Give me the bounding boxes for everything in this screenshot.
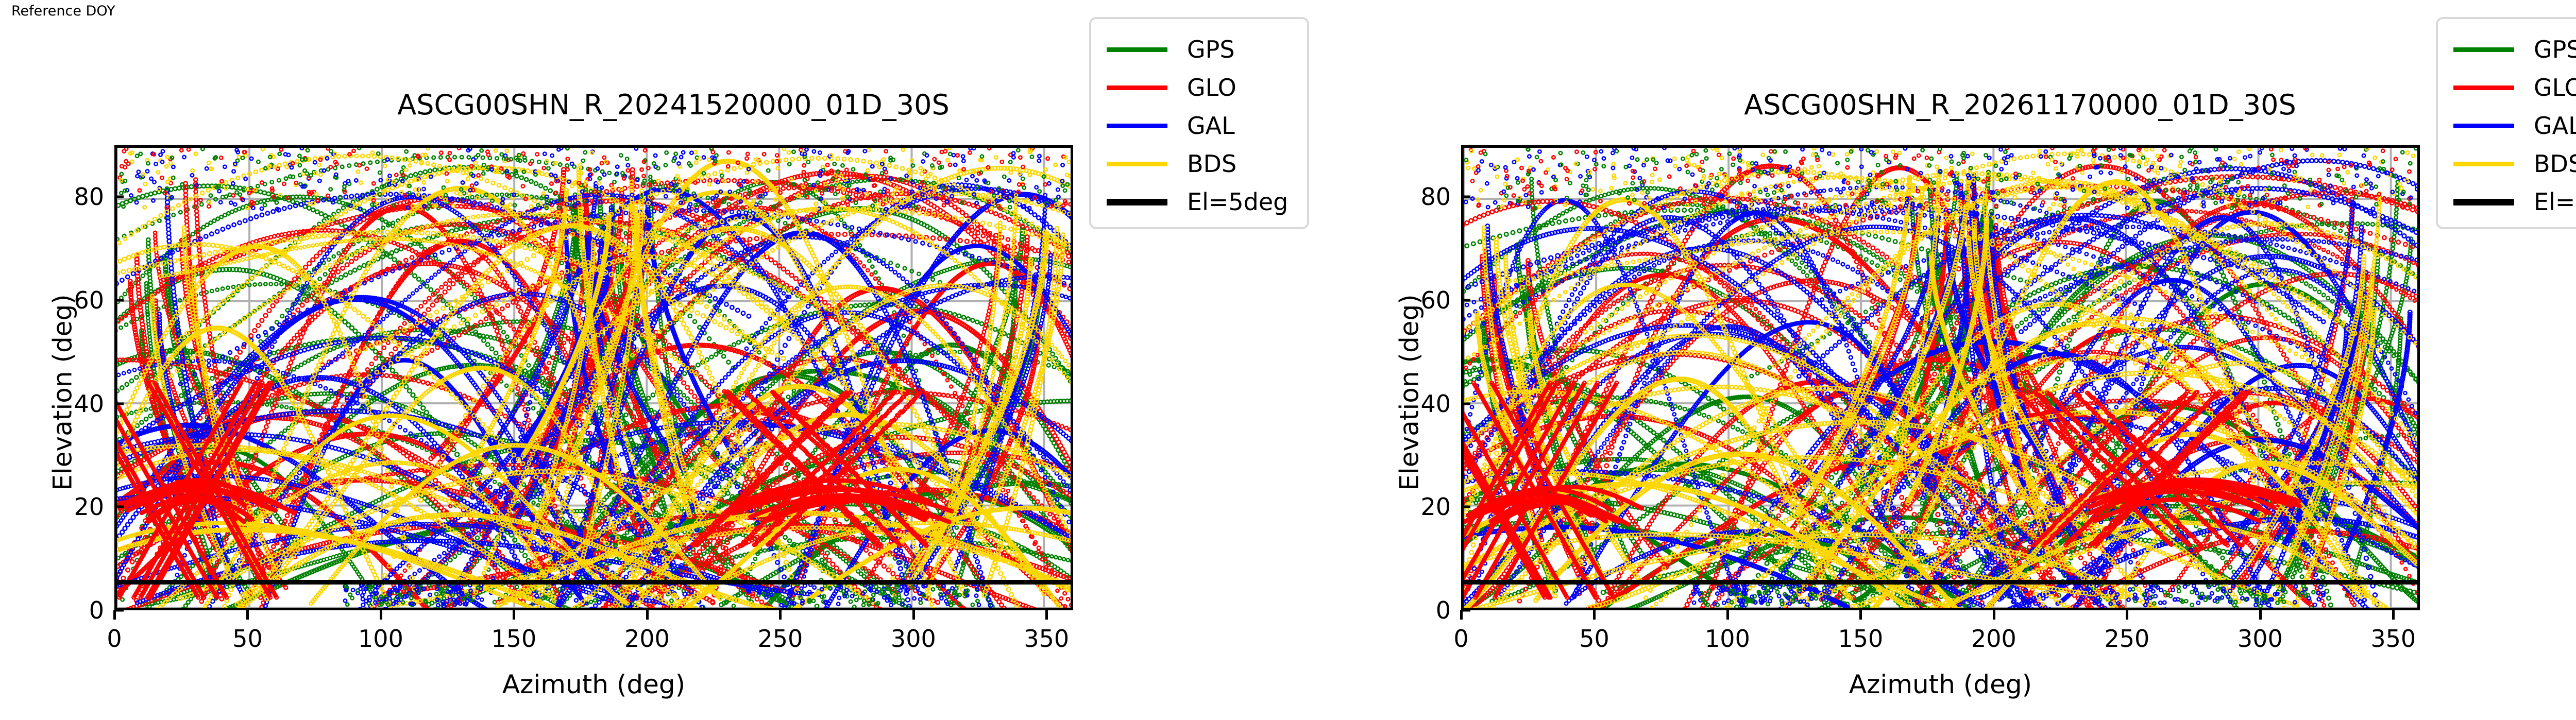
x-tick-mark [1993, 610, 1995, 620]
legend-label: GLO [2534, 76, 2576, 99]
y-axis-label: Elevation (deg) [48, 160, 78, 625]
panel-left: ASCG00SHN_R_20241520000_01D_30S 02040608… [0, 0, 1347, 720]
x-tick-label: 250 [2075, 625, 2178, 653]
legend-item[interactable]: GLO [2438, 68, 2576, 107]
legend-swatch-gal [1107, 124, 1167, 128]
y-tick-mark [114, 402, 124, 405]
x-tick-mark [912, 610, 915, 620]
x-tick-mark [2126, 610, 2128, 620]
legend-swatch-el-5deg [2453, 199, 2514, 205]
x-tick-mark [1460, 610, 1463, 620]
legend-label: GAL [1187, 114, 1235, 138]
x-tick-label: 300 [862, 625, 965, 653]
sky-track-plot [117, 148, 1071, 608]
legend-item[interactable]: GPS [1091, 30, 1307, 68]
legend-label: BDS [2534, 152, 2576, 176]
y-tick-mark [1461, 506, 1470, 508]
legend-label: El=5deg [2534, 190, 2576, 214]
figure-canvas: Reference DOY ASCG00SHN_R_20241520000_01… [0, 0, 2576, 720]
x-tick-label: 250 [728, 625, 832, 653]
x-tick-label: 150 [462, 625, 565, 653]
legend-item[interactable]: BDS [1091, 145, 1307, 183]
legend-swatch-el-5deg [1107, 199, 1167, 205]
y-tick-mark [1461, 196, 1470, 198]
x-axis-label: Azimuth (deg) [114, 670, 1073, 699]
legend-item[interactable]: GAL [1091, 107, 1307, 145]
x-tick-label: 350 [2342, 625, 2445, 653]
x-tick-mark [246, 610, 249, 620]
y-axis-label: Elevation (deg) [1395, 160, 1425, 625]
legend-item[interactable]: GPS [2438, 30, 2576, 68]
legend-label: GAL [2534, 114, 2576, 138]
legend-label: GPS [1187, 38, 1235, 61]
x-tick-mark [380, 610, 382, 620]
panel-title: ASCG00SHN_R_20261170000_01D_30S [1347, 89, 2576, 121]
x-axis-ticks: 050100150200250300350 [114, 610, 1073, 672]
x-tick-label: 200 [596, 625, 699, 653]
legend-swatch-gps [2453, 47, 2514, 52]
legend-swatch-bds [1107, 162, 1167, 166]
plot-area[interactable] [114, 145, 1073, 610]
x-axis-ticks: 050100150200250300350 [1461, 610, 2420, 672]
satellite-arcs [1464, 148, 2417, 608]
x-tick-label: 0 [63, 625, 166, 653]
x-tick-mark [2259, 610, 2262, 620]
y-tick-mark [1461, 299, 1470, 302]
y-tick-mark [114, 299, 124, 302]
x-tick-label: 100 [329, 625, 432, 653]
plot-area[interactable] [1461, 145, 2420, 610]
legend-label: El=5deg [1187, 190, 1288, 214]
legend-item[interactable]: El=5deg [2438, 183, 2576, 221]
legend-swatch-bds [2453, 162, 2514, 166]
legend-item[interactable]: El=5deg [1091, 183, 1307, 221]
legend-label: BDS [1187, 152, 1236, 176]
y-tick-mark [114, 506, 124, 508]
x-tick-label: 50 [196, 625, 299, 653]
satellite-arcs [117, 148, 1071, 608]
legend-swatch-gal [2453, 124, 2514, 128]
legend-item[interactable]: GAL [2438, 107, 2576, 145]
sky-track-plot [1464, 148, 2417, 608]
panel-right: ASCG00SHN_R_20261170000_01D_30S 02040608… [1347, 0, 2576, 720]
x-tick-mark [779, 610, 782, 620]
x-tick-label: 100 [1676, 625, 1779, 653]
legend-label: GLO [1187, 76, 1236, 99]
x-tick-mark [113, 610, 116, 620]
x-tick-mark [1593, 610, 1596, 620]
x-tick-mark [2392, 610, 2395, 620]
x-tick-label: 150 [1809, 625, 1912, 653]
legend-box[interactable]: GPSGLOGALBDSEl=5deg [1089, 17, 1309, 229]
legend-label: GPS [2534, 38, 2576, 61]
legend-swatch-glo [1107, 85, 1167, 90]
x-tick-mark [513, 610, 515, 620]
legend-swatch-gps [1107, 47, 1167, 52]
legend-item[interactable]: BDS [2438, 145, 2576, 183]
x-tick-mark [1045, 610, 1048, 620]
x-tick-label: 200 [1942, 625, 2045, 653]
x-tick-mark [646, 610, 649, 620]
y-tick-mark [1461, 402, 1470, 405]
x-tick-mark [1859, 610, 1862, 620]
x-tick-label: 350 [995, 625, 1098, 653]
y-tick-mark [114, 196, 124, 198]
x-tick-label: 0 [1410, 625, 1513, 653]
legend-box[interactable]: GPSGLOGALBDSEl=5deg [2436, 17, 2576, 229]
legend-item[interactable]: GLO [1091, 68, 1307, 107]
x-tick-label: 300 [2209, 625, 2312, 653]
legend-swatch-glo [2453, 85, 2514, 90]
x-axis-label: Azimuth (deg) [1461, 670, 2420, 699]
x-tick-label: 50 [1543, 625, 1646, 653]
x-tick-mark [1726, 610, 1729, 620]
